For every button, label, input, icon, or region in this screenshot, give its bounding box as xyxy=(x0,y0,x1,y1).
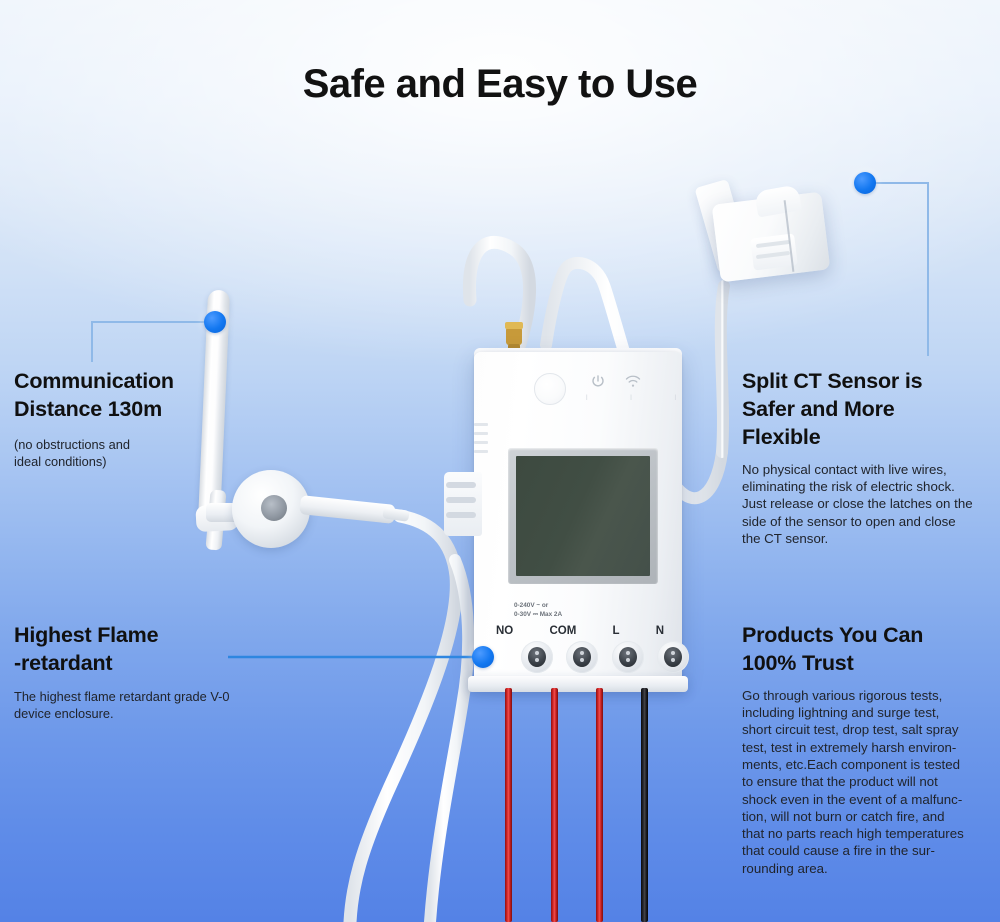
heading-line-1: Communication xyxy=(14,369,174,393)
body-line-1: (no obstructions and xyxy=(14,437,130,452)
body-line-5: ments, etc.Each component is tested xyxy=(742,757,960,772)
heading-line-2: -retardant xyxy=(14,651,112,675)
body-line-10: that could cause a fire in the sur- xyxy=(742,843,935,858)
callout-dot-communication[interactable] xyxy=(204,311,226,333)
body-line-3: Just release or close the latches on the xyxy=(742,496,973,511)
heading-line-1: Products You Can xyxy=(742,623,923,647)
heading-line-1: Highest Flame xyxy=(14,623,158,647)
body-line-4: test, test in extremely harsh environ- xyxy=(742,740,956,755)
body-line-1: No physical contact with live wires, xyxy=(742,462,947,477)
callout-body: No physical contact with live wires, eli… xyxy=(742,461,994,547)
heading-line-2: 100% Trust xyxy=(742,651,854,675)
body-line-6: to ensure that the product will not xyxy=(742,774,938,789)
callout-dot-ct-sensor[interactable] xyxy=(854,172,876,194)
heading-line-1: Split CT Sensor is xyxy=(742,369,922,393)
body-line-1: Go through various rigorous tests, xyxy=(742,688,942,703)
body-line-2: ideal conditions) xyxy=(14,454,106,469)
callout-flame-retardant: Highest Flame -retardant The highest fla… xyxy=(14,622,284,722)
body-line-3: short circuit test, drop test, salt spra… xyxy=(742,722,959,737)
body-line-8: tion, will not burn or catch fire, and xyxy=(742,809,945,824)
heading-line-2: Distance 130m xyxy=(14,397,162,421)
body-line-2: including lightning and surge test, xyxy=(742,705,939,720)
callout-communication-distance: Communication Distance 130m (no obstruct… xyxy=(14,368,264,470)
body-line-2: eliminating the risk of electric shock. xyxy=(742,479,955,494)
body-line-5: the CT sensor. xyxy=(742,531,828,546)
heading-line-3: Flexible xyxy=(742,425,820,449)
callout-heading: Split CT Sensor is Safer and More Flexib… xyxy=(742,368,994,452)
body-line-2: device enclosure. xyxy=(14,706,114,721)
body-line-7: shock even in the event of a malfunc- xyxy=(742,792,962,807)
callout-body: The highest flame retardant grade V-0 de… xyxy=(14,688,284,722)
heading-line-2: Safer and More xyxy=(742,397,895,421)
callout-heading: Products You Can 100% Trust xyxy=(742,622,994,678)
callout-body: (no obstructions and ideal conditions) xyxy=(14,436,264,470)
callout-heading: Communication Distance 130m xyxy=(14,368,264,424)
body-line-9: that no parts reach high temperatures xyxy=(742,826,964,841)
callout-split-ct-sensor: Split CT Sensor is Safer and More Flexib… xyxy=(742,368,994,547)
callout-heading: Highest Flame -retardant xyxy=(14,622,284,678)
body-line-1: The highest flame retardant grade V-0 xyxy=(14,689,230,704)
callout-body: Go through various rigorous tests, inclu… xyxy=(742,687,994,877)
callout-dot-flame-retardant[interactable] xyxy=(472,646,494,668)
callout-products-you-can-trust: Products You Can 100% Trust Go through v… xyxy=(742,622,994,877)
body-line-4: side of the sensor to open and close xyxy=(742,514,956,529)
body-line-11: rounding area. xyxy=(742,861,828,876)
